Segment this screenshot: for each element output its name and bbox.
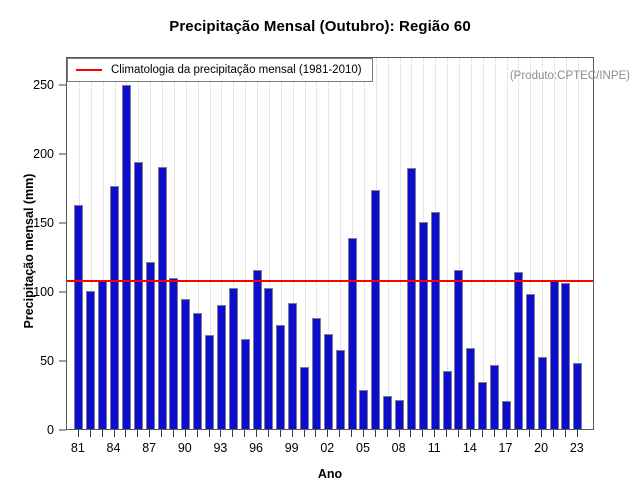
x-tick-mark	[304, 430, 305, 437]
y-tick-label: 0	[47, 423, 54, 437]
x-tick-label: 05	[356, 441, 370, 455]
x-tick-mark	[577, 430, 578, 437]
y-tick-mark	[59, 84, 66, 85]
x-tick-mark	[280, 430, 281, 437]
x-tick-label: 02	[320, 441, 334, 455]
x-tick-label: 90	[178, 441, 192, 455]
x-tick-mark	[470, 430, 471, 437]
bar	[561, 283, 570, 429]
y-tick-mark	[59, 430, 66, 431]
x-tick-mark	[529, 430, 530, 437]
bar	[300, 367, 309, 429]
bar	[431, 212, 440, 429]
x-tick-label: 20	[534, 441, 548, 455]
bar	[443, 371, 452, 429]
x-tick-mark	[102, 430, 103, 437]
x-tick-mark	[553, 430, 554, 437]
legend-label-climatology: Climatologia da precipitação mensal (198…	[111, 64, 362, 76]
x-tick-label: 81	[71, 441, 85, 455]
bar	[86, 291, 95, 429]
bar	[98, 280, 107, 429]
x-tick-mark	[137, 430, 138, 437]
x-tick-mark	[161, 430, 162, 437]
bar	[348, 238, 357, 429]
y-tick-mark	[59, 222, 66, 223]
x-tick-mark	[541, 430, 542, 437]
x-tick-mark	[244, 430, 245, 437]
x-tick-mark	[422, 430, 423, 437]
x-axis-title: Ano	[66, 467, 594, 481]
bar	[514, 272, 523, 429]
bar	[241, 339, 250, 429]
bar	[134, 162, 143, 429]
x-tick-mark	[517, 430, 518, 437]
x-tick-mark	[114, 430, 115, 437]
bar	[253, 270, 262, 429]
x-tick-mark	[327, 430, 328, 437]
bar	[383, 396, 392, 429]
y-tick-label: 50	[40, 354, 54, 368]
x-tick-mark	[363, 430, 364, 437]
bar	[229, 288, 238, 429]
x-tick-mark	[149, 430, 150, 437]
bar	[181, 299, 190, 429]
x-tick-mark	[256, 430, 257, 437]
x-tick-label: 23	[570, 441, 584, 455]
bar	[538, 357, 547, 429]
y-tick-label: 250	[33, 78, 54, 92]
bar	[490, 365, 499, 429]
y-axis: 050100150200250 Precipitação mensal (mm)	[0, 0, 66, 500]
x-tick-label: 93	[213, 441, 227, 455]
x-tick-mark	[482, 430, 483, 437]
bar	[419, 222, 428, 429]
x-tick-mark	[315, 430, 316, 437]
x-tick-label: 96	[249, 441, 263, 455]
plot-area	[66, 57, 594, 430]
x-tick-mark	[232, 430, 233, 437]
x-tick-label: 11	[428, 441, 441, 455]
x-tick-mark	[565, 430, 566, 437]
y-tick-mark	[59, 291, 66, 292]
x-tick-mark	[458, 430, 459, 437]
bar	[122, 85, 131, 429]
bar	[276, 325, 285, 429]
bar	[573, 363, 582, 429]
bar	[407, 168, 416, 429]
legend-line-swatch	[76, 69, 102, 71]
x-axis: 818487909396990205081114172023 Ano	[66, 430, 594, 500]
y-tick-label: 200	[33, 147, 54, 161]
bar	[217, 305, 226, 429]
x-tick-label: 14	[463, 441, 477, 455]
x-tick-label: 87	[142, 441, 156, 455]
x-tick-label: 08	[392, 441, 406, 455]
bar	[454, 270, 463, 429]
bar	[205, 335, 214, 429]
bar	[312, 318, 321, 429]
bar	[288, 303, 297, 429]
bar	[110, 186, 119, 429]
x-tick-mark	[387, 430, 388, 437]
climatology-reference-line	[67, 280, 593, 282]
bar	[526, 294, 535, 429]
x-tick-mark	[173, 430, 174, 437]
bar	[264, 288, 273, 429]
bar	[478, 382, 487, 429]
legend: Climatologia da precipitação mensal (198…	[67, 58, 373, 82]
x-tick-mark	[506, 430, 507, 437]
x-tick-label: 99	[285, 441, 299, 455]
x-tick-mark	[446, 430, 447, 437]
bar	[193, 313, 202, 429]
x-tick-mark	[125, 430, 126, 437]
x-tick-mark	[375, 430, 376, 437]
y-tick-mark	[59, 153, 66, 154]
bar	[158, 167, 167, 429]
x-tick-mark	[410, 430, 411, 437]
bar	[395, 400, 404, 429]
x-tick-mark	[209, 430, 210, 437]
bar	[550, 280, 559, 429]
x-tick-label: 84	[107, 441, 121, 455]
bar	[74, 205, 83, 429]
x-tick-mark	[494, 430, 495, 437]
bar	[169, 278, 178, 429]
bar	[336, 350, 345, 429]
bar	[324, 334, 333, 429]
y-tick-label: 100	[33, 285, 54, 299]
x-tick-mark	[339, 430, 340, 437]
x-tick-mark	[399, 430, 400, 437]
bar	[371, 190, 380, 429]
x-tick-mark	[185, 430, 186, 437]
x-tick-mark	[90, 430, 91, 437]
x-tick-mark	[351, 430, 352, 437]
x-tick-label: 17	[499, 441, 513, 455]
x-tick-mark	[197, 430, 198, 437]
y-tick-mark	[59, 360, 66, 361]
precipitation-bar-chart: Precipitação Mensal (Outubro): Região 60…	[0, 0, 640, 500]
y-axis-title: Precipitação mensal (mm)	[22, 126, 36, 376]
product-credit: (Produto:CPTEC/INPE)	[510, 70, 630, 82]
page-title: Precipitação Mensal (Outubro): Região 60	[0, 18, 640, 35]
x-tick-mark	[220, 430, 221, 437]
y-tick-label: 150	[33, 216, 54, 230]
x-tick-mark	[292, 430, 293, 437]
x-tick-mark	[434, 430, 435, 437]
bar	[359, 390, 368, 429]
bar	[466, 348, 475, 430]
x-tick-mark	[78, 430, 79, 437]
bar	[146, 262, 155, 429]
x-tick-mark	[268, 430, 269, 437]
bars-layer	[67, 58, 593, 429]
bar	[502, 401, 511, 429]
